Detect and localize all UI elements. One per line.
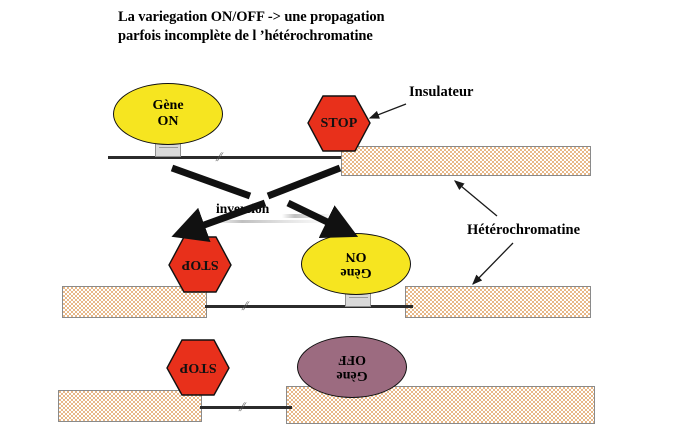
inversion-converging-stroke-left (172, 168, 250, 196)
hexagon-shape-icon (307, 95, 371, 152)
dna-break-mark-row-middle (241, 299, 256, 312)
title-line-1: La variegation ON/OFF -> une propagation (118, 9, 384, 25)
hexagon-shape-icon (166, 339, 230, 396)
page-title: La variegation ON/OFF -> une propagation… (118, 8, 538, 46)
inversion-converging-stroke-right (268, 168, 340, 196)
gene-on-ellipse-row-middle: Gène ON (301, 233, 411, 295)
stop-hexagon-row-bottom: STOP (166, 339, 230, 396)
insulateur-label: Insulateur (409, 84, 473, 101)
dna-line-row-middle (205, 305, 413, 308)
dna-break-mark-row-bottom (238, 400, 253, 413)
stop-hexagon-row-middle: STOP (168, 236, 232, 293)
hexagon-shape-icon (168, 236, 232, 293)
gene-on-label-row-middle: Gène ON (340, 248, 371, 280)
gene-on-label-row-top: Gène ON (152, 98, 183, 130)
heterochromatin-bar-row-top (341, 146, 591, 176)
heterochromatine-label: Hétérochromatine (467, 222, 580, 239)
inversion-label: inversion (216, 201, 269, 217)
heterochromatin-bar-row-middle-right (405, 286, 591, 318)
gene-off-ellipse-row-bottom: Gène OFF (297, 336, 407, 398)
heterochromatine-pointer-arrow-middle (473, 243, 513, 284)
heterochromatine-pointer-arrow-top (455, 181, 497, 216)
insulateur-pointer-arrow (370, 104, 406, 118)
gene-off-label-row-bottom: Gène OFF (336, 351, 367, 383)
diagram-canvas: La variegation ON/OFF -> une propagation… (0, 0, 678, 442)
dna-break-mark-row-top (215, 150, 230, 163)
gene-on-ellipse-row-top: Gène ON (113, 83, 223, 145)
inversion-underline-smudge-2 (282, 214, 334, 218)
title-line-2: parfois incomplète de l ’hétérochromatin… (118, 28, 373, 44)
inversion-underline-smudge (212, 220, 332, 223)
stop-hexagon-row-top: STOP (307, 95, 371, 152)
